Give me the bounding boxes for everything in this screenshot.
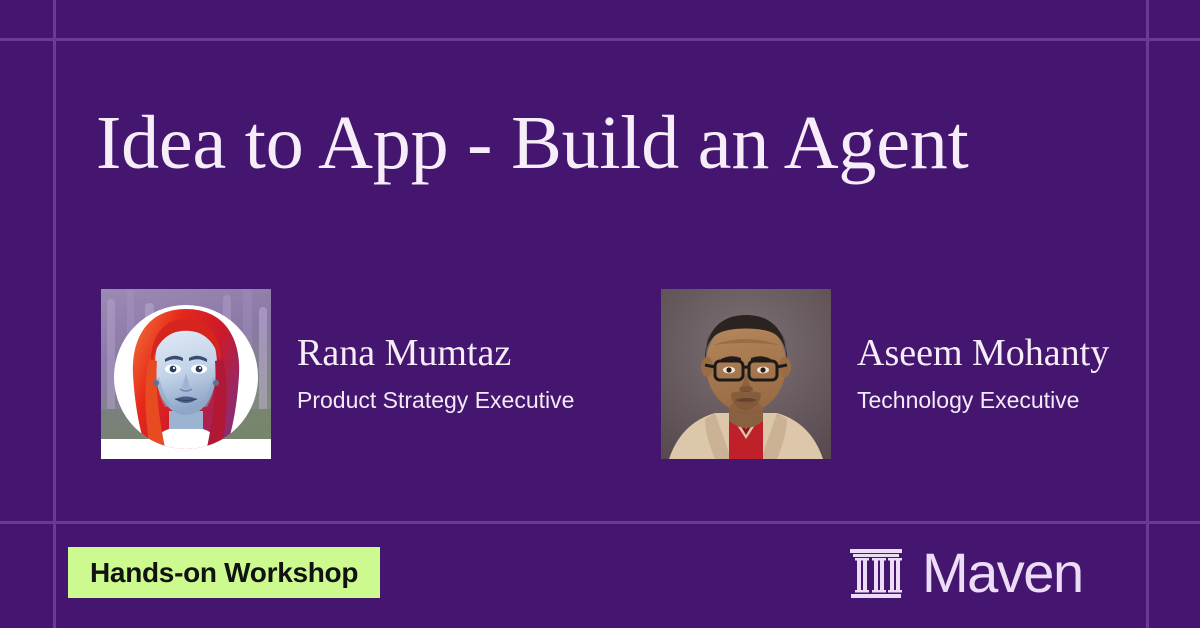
grid-line-vertical-right [1146, 0, 1149, 628]
grid-line-horizontal-bottom [0, 521, 1200, 524]
speaker-card: Rana Mumtaz Product Strategy Executive [101, 289, 574, 459]
avatar-rana-mumtaz [101, 289, 271, 459]
speaker-role: Product Strategy Executive [297, 387, 574, 415]
speaker-text: Rana Mumtaz Product Strategy Executive [297, 333, 574, 414]
status-badge: Hands-on Workshop [68, 547, 380, 598]
speakers-row: Rana Mumtaz Product Strategy Executive [101, 289, 1121, 465]
speaker-name: Aseem Mohanty [857, 333, 1109, 375]
grid-line-horizontal-top [0, 38, 1200, 41]
speaker-role: Technology Executive [857, 387, 1109, 415]
maven-columns-icon [848, 545, 904, 601]
speaker-text: Aseem Mohanty Technology Executive [857, 333, 1109, 414]
grid-line-vertical-left [53, 0, 56, 628]
avatar-aseem-mohanty [661, 289, 831, 459]
badge-label: Hands-on Workshop [90, 557, 358, 589]
speaker-name: Rana Mumtaz [297, 333, 574, 375]
speaker-card: Aseem Mohanty Technology Executive [661, 289, 1109, 459]
event-slide: Idea to App - Build an Agent [0, 0, 1200, 628]
maven-logo: Maven [848, 544, 1083, 602]
maven-wordmark: Maven [922, 545, 1083, 601]
slide-title: Idea to App - Build an Agent [96, 104, 1096, 184]
